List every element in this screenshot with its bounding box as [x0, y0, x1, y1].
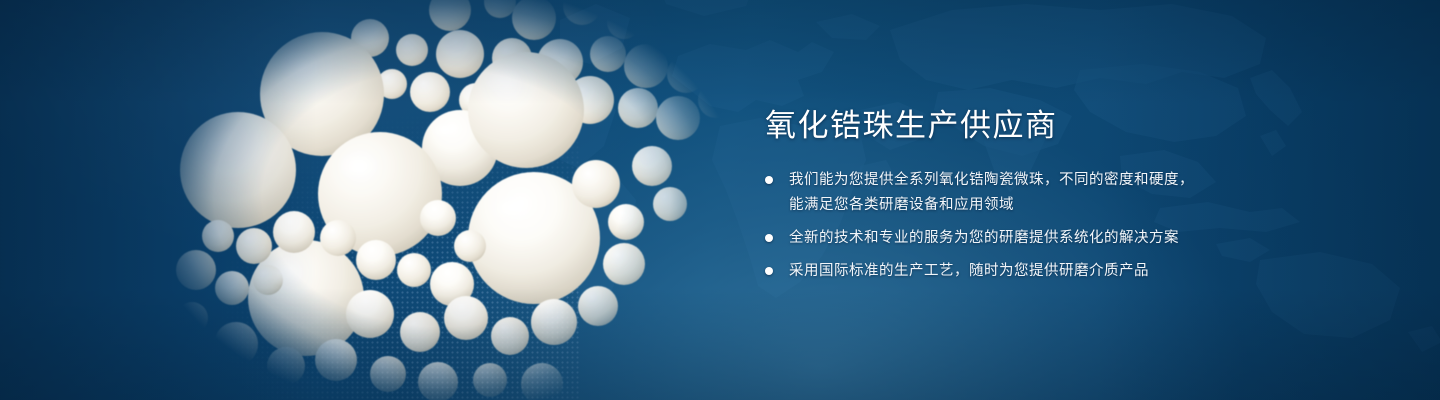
feature-bullet-item: 我们能为您提供全系列氧化锆陶瓷微珠，不同的密度和硬度， 能满足您各类研磨设备和应…	[765, 168, 1385, 218]
bullet-dot-icon	[765, 267, 773, 275]
feature-bullet-item: 采用国际标准的生产工艺，随时为您提供研磨介质产品	[765, 259, 1385, 284]
feature-bullet-text: 全新的技术和专业的服务为您的研磨提供系统化的解决方案	[789, 226, 1179, 251]
feature-bullet-item: 全新的技术和专业的服务为您的研磨提供系统化的解决方案	[765, 226, 1385, 251]
bullet-dot-icon	[765, 234, 773, 242]
bullet-line-2: 能满足您各类研磨设备和应用领域	[789, 193, 1194, 218]
bullet-line-1: 我们能为您提供全系列氧化锆陶瓷微珠，不同的密度和硬度，	[789, 172, 1194, 188]
banner-headline: 氧化锆珠生产供应商	[765, 106, 1385, 146]
feature-bullet-text: 我们能为您提供全系列氧化锆陶瓷微珠，不同的密度和硬度， 能满足您各类研磨设备和应…	[789, 168, 1194, 218]
hero-banner: 氧化锆珠生产供应商 我们能为您提供全系列氧化锆陶瓷微珠，不同的密度和硬度， 能满…	[0, 0, 1440, 400]
feature-bullet-text: 采用国际标准的生产工艺，随时为您提供研磨介质产品	[789, 259, 1149, 284]
bullet-dot-icon	[765, 176, 773, 184]
bullet-line-1: 采用国际标准的生产工艺，随时为您提供研磨介质产品	[789, 263, 1149, 279]
feature-bullet-list: 我们能为您提供全系列氧化锆陶瓷微珠，不同的密度和硬度， 能满足您各类研磨设备和应…	[765, 168, 1385, 284]
banner-copy: 氧化锆珠生产供应商 我们能为您提供全系列氧化锆陶瓷微珠，不同的密度和硬度， 能满…	[765, 106, 1385, 284]
bullet-line-1: 全新的技术和专业的服务为您的研磨提供系统化的解决方案	[789, 230, 1179, 246]
